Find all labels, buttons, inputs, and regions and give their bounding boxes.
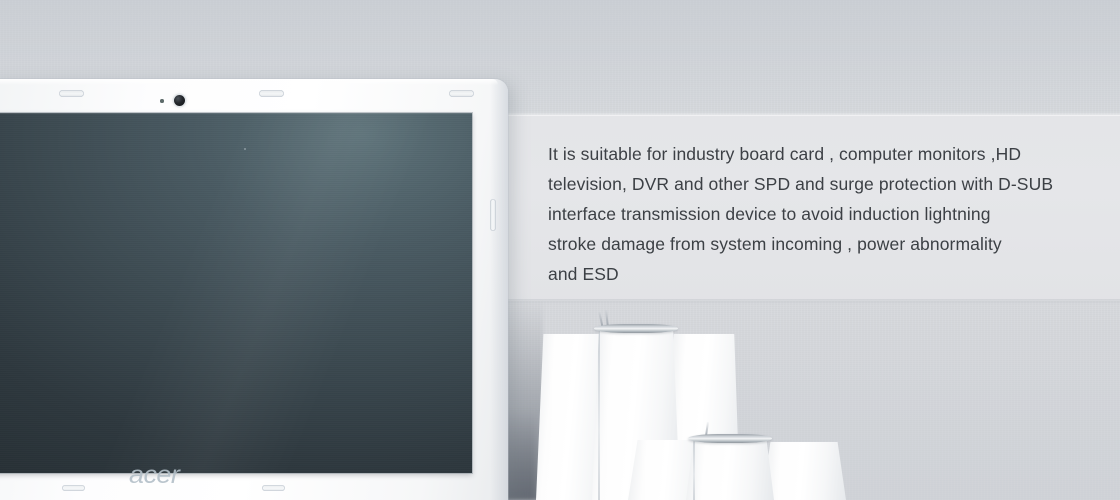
vase-gloss bbox=[695, 436, 720, 500]
vase-front-right bbox=[762, 442, 846, 500]
camera-indicator-led-icon bbox=[160, 99, 164, 103]
vase-edge bbox=[598, 326, 600, 500]
vase-gloss bbox=[639, 440, 666, 500]
bezel-bumper-bottom-right bbox=[262, 485, 285, 491]
bezel-side-slot bbox=[490, 199, 496, 231]
webcam-lens-icon bbox=[174, 95, 185, 106]
vase-rim-back-center bbox=[594, 324, 678, 333]
screen-dust-speck bbox=[244, 148, 246, 150]
vase-rim-front-center bbox=[688, 434, 772, 443]
vase-gloss bbox=[546, 334, 573, 500]
acer-brand-logo: acer bbox=[129, 461, 179, 490]
product-description-text: It is suitable for industry board card ,… bbox=[548, 139, 1088, 289]
bezel-bumper-top-left bbox=[59, 90, 84, 97]
vase-gloss bbox=[601, 326, 627, 500]
laptop-top-highlight bbox=[0, 79, 498, 85]
bezel-bumper-bottom-left bbox=[62, 485, 85, 491]
vase-front-center bbox=[686, 436, 774, 500]
vase-gloss bbox=[772, 442, 799, 500]
bezel-bumper-top-right bbox=[449, 90, 474, 97]
laptop-screen[interactable] bbox=[0, 113, 472, 473]
bezel-bumper-top-center bbox=[259, 90, 284, 97]
screen-grain bbox=[0, 113, 472, 473]
product-banner-scene: acer It is suitable for industry board c… bbox=[0, 0, 1120, 500]
laptop: acer bbox=[0, 79, 508, 500]
vase-edge bbox=[693, 436, 695, 500]
